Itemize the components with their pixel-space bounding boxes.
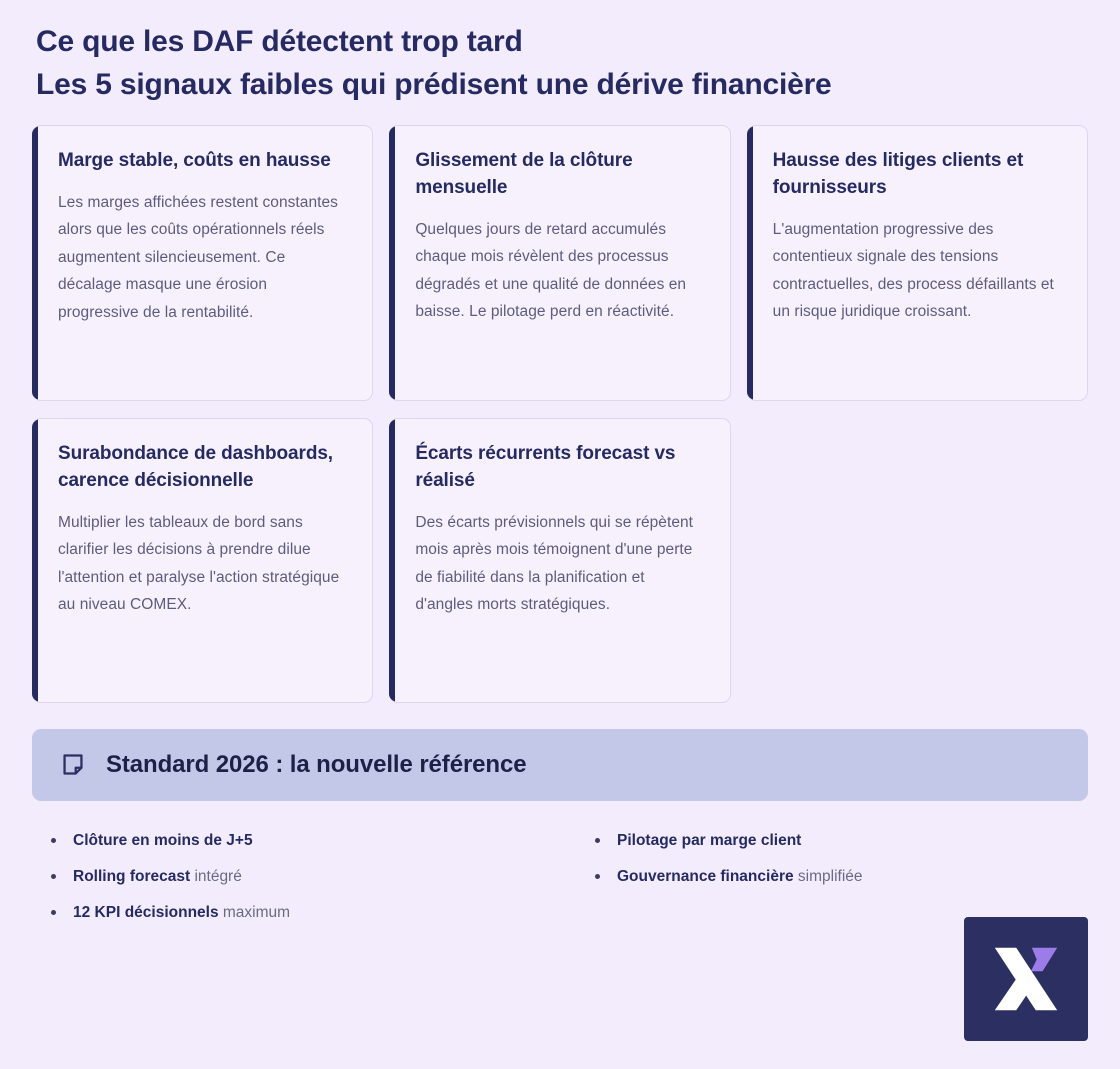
list-item: Clôture en moins de J+5 (40, 829, 536, 852)
signal-card-2-body: Quelques jours de retard accumulés chaqu… (415, 216, 705, 326)
signal-card-5-title: Écarts récurrents forecast vs réalisé (415, 441, 705, 495)
benefit-label: Gouvernance financière (617, 868, 794, 885)
signal-card-1: Marge stable, coûts en hausse Les marges… (32, 125, 373, 401)
signal-cards-grid: Marge stable, coûts en hausse Les marges… (32, 125, 1088, 703)
signal-card-5-body: Des écarts prévisionnels qui se répètent… (415, 509, 705, 619)
standard-banner-title: Standard 2026 : la nouvelle référence (106, 751, 526, 779)
benefit-detail: intégré (190, 868, 242, 885)
signal-card-3-body: L'augmentation progressive des contentie… (773, 216, 1063, 326)
signal-card-2-title: Glissement de la clôture mensuelle (415, 148, 705, 202)
list-item: Rolling forecast intégré (40, 865, 536, 888)
signal-card-2: Glissement de la clôture mensuelle Quelq… (389, 125, 730, 401)
benefit-label: Clôture en moins de J+5 (73, 832, 253, 849)
sticky-note-icon (60, 752, 86, 778)
benefits-columns: Clôture en moins de J+5 Rolling forecast… (32, 829, 1088, 938)
page-header: Ce que les DAF détectent trop tard Les 5… (32, 22, 1088, 105)
list-item: Gouvernance financière simplifiée (584, 865, 1080, 888)
standard-banner: Standard 2026 : la nouvelle référence (32, 729, 1088, 801)
benefits-column-left: Clôture en moins de J+5 Rolling forecast… (40, 829, 536, 938)
signal-card-4-body: Multiplier les tableaux de bord sans cla… (58, 509, 348, 619)
infographic-page: Ce que les DAF détectent trop tard Les 5… (0, 0, 1120, 1069)
benefit-detail: maximum (219, 904, 290, 921)
benefit-label: 12 KPI décisionnels (73, 904, 219, 921)
signal-card-3: Hausse des litiges clients et fournisseu… (747, 125, 1088, 401)
page-title-line-2: Les 5 signaux faibles qui prédisent une … (36, 65, 1084, 105)
list-item: Pilotage par marge client (584, 829, 1080, 852)
signal-card-4: Surabondance de dashboards, carence déci… (32, 418, 373, 703)
list-item: 12 KPI décisionnels maximum (40, 901, 536, 924)
brand-x-logo (964, 917, 1088, 1041)
benefit-label: Rolling forecast (73, 868, 190, 885)
signal-card-4-title: Surabondance de dashboards, carence déci… (58, 441, 348, 495)
benefit-label: Pilotage par marge client (617, 832, 801, 849)
signal-card-5: Écarts récurrents forecast vs réalisé De… (389, 418, 730, 703)
signal-card-1-title: Marge stable, coûts en hausse (58, 148, 348, 175)
brand-x-logo-mark (987, 940, 1065, 1018)
signal-card-1-body: Les marges affichées restent constantes … (58, 189, 348, 327)
benefit-detail: simplifiée (794, 868, 863, 885)
page-title-line-1: Ce que les DAF détectent trop tard (36, 22, 1084, 62)
signal-card-3-title: Hausse des litiges clients et fournisseu… (773, 148, 1063, 202)
